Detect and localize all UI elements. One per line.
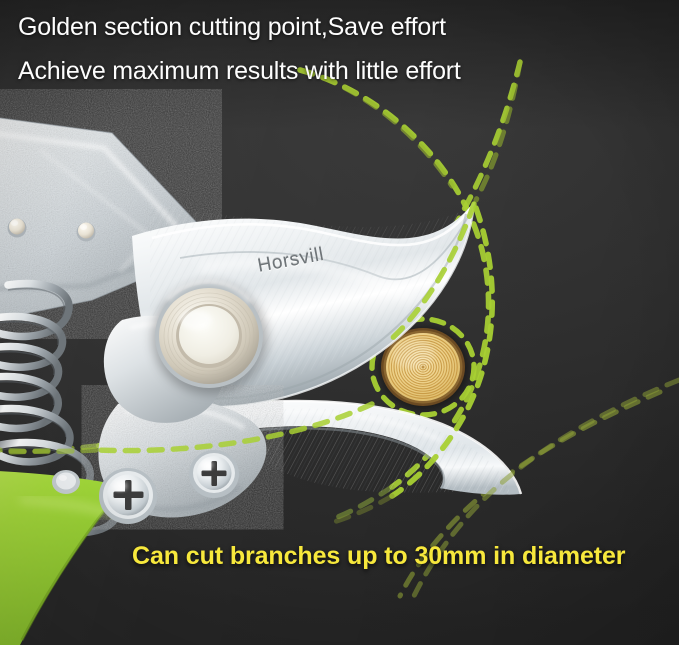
- bottom-caption: Can cut branches up to 30mm in diameter: [132, 542, 625, 571]
- product-image-canvas: Horsvill Golden section cutting point,Sa…: [0, 0, 679, 645]
- headline-line-1: Golden section cutting point,Save effort: [18, 13, 446, 42]
- headline-line-2: Achieve maximum results with little effo…: [18, 57, 461, 86]
